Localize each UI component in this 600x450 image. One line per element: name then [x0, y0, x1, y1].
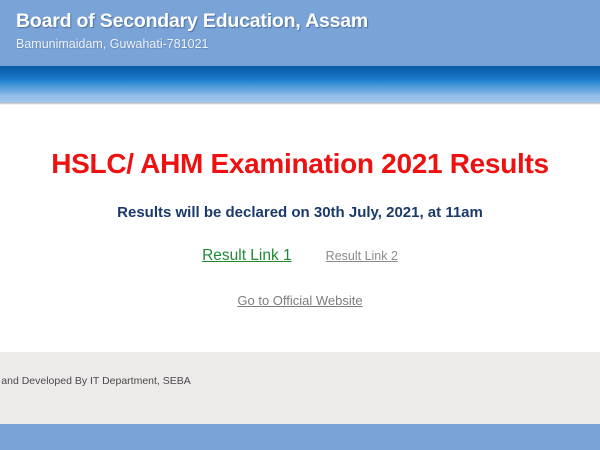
site-title: Board of Secondary Education, Assam [16, 9, 600, 33]
header-gradient-band [0, 66, 600, 94]
footer-band: Designed and Developed By IT Department,… [0, 352, 600, 424]
site-address: Bamunimaidam, Guwahati-781021 [16, 35, 600, 53]
result-link-1[interactable]: Result Link 1 [202, 247, 292, 265]
site-header: Board of Secondary Education, Assam Bamu… [0, 0, 600, 66]
official-website-row: Go to Official Website [0, 292, 600, 310]
official-website-link[interactable]: Go to Official Website [237, 293, 362, 308]
footer-bottom-bar [0, 424, 600, 450]
result-links-row: Result Link 1 Result Link 2 [0, 247, 600, 265]
header-light-band [0, 94, 600, 102]
footer-credit-text: Designed and Developed By IT Department,… [0, 374, 191, 388]
page-title: HSLC/ AHM Examination 2021 Results [0, 147, 600, 181]
result-link-2[interactable]: Result Link 2 [326, 249, 398, 263]
declaration-note: Results will be declared on 30th July, 2… [0, 203, 600, 223]
main-content: HSLC/ AHM Examination 2021 Results Resul… [0, 105, 600, 352]
